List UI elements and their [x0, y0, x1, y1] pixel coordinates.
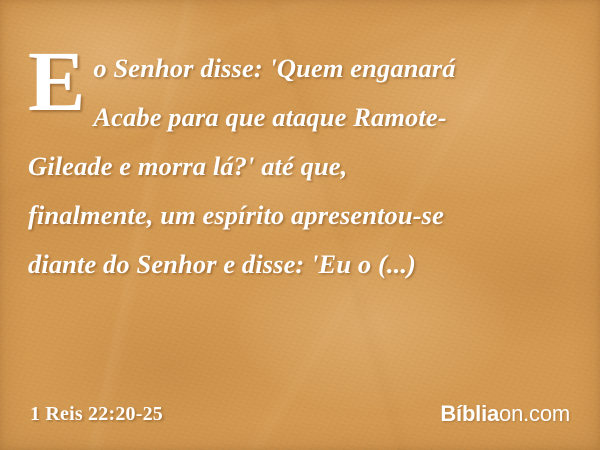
verse-block: E o Senhor disse: 'Quem enganará Acabe p… [28, 44, 576, 289]
logo-word-biblia: Bíblia [440, 401, 499, 427]
card-footer: 1 Reis 22:20-25 Bíblia on.com [0, 400, 600, 428]
verse-dropcap: E [28, 46, 85, 117]
bibliaon-logo[interactable]: Bíblia on.com [440, 401, 570, 427]
logo-word-oncom: on.com [499, 401, 570, 427]
card-content: E o Senhor disse: 'Quem enganará Acabe p… [0, 0, 600, 450]
verse-image-card: E o Senhor disse: 'Quem enganará Acabe p… [0, 0, 600, 450]
scripture-reference: 1 Reis 22:20-25 [30, 403, 163, 426]
verse-text: o Senhor disse: 'Quem enganará Acabe par… [28, 53, 456, 279]
